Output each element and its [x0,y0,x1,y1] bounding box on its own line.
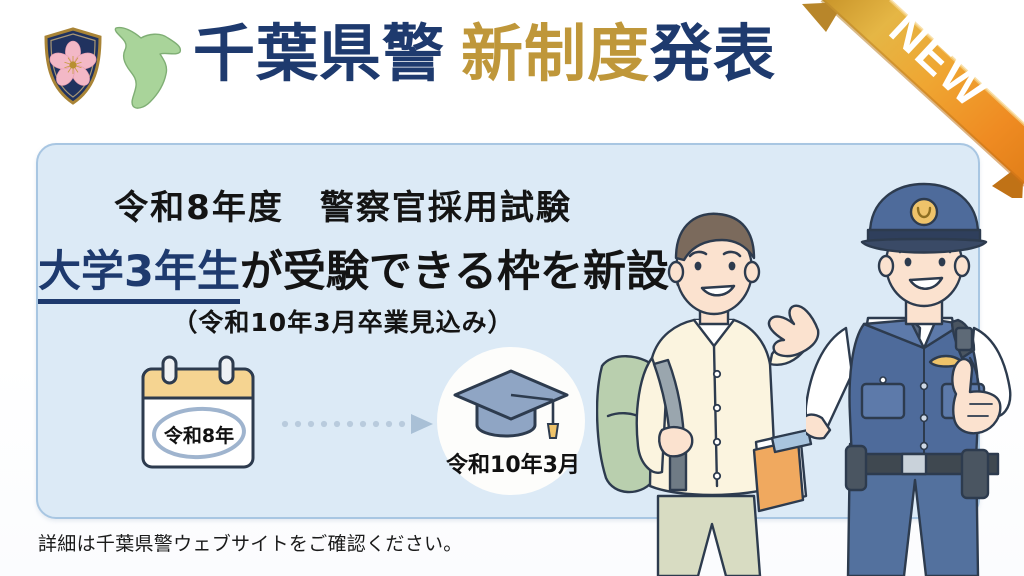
chiba-prefecture-map-icon [108,22,186,112]
header-bar: 千葉県警 新制度 発表 [0,0,1024,132]
timeline-graphic: 令和8年 [133,355,603,485]
calendar-icon [133,355,263,473]
highlight-university-third-year: 大学3年生 [38,247,240,304]
footer-note: 詳細は千葉県警ウェブサイトをご確認ください。 [38,529,463,556]
dotted-arrow-icon [281,412,433,436]
page-title: 千葉県警 新制度 発表 [193,21,776,88]
title-new-system: 新制度 [461,21,650,88]
graduation-cap-icon [453,361,573,447]
student-with-backpack-illustration [596,196,826,576]
timeline-start-label: 令和8年 [147,421,251,448]
police-officer-thumbs-up-illustration [806,178,1024,576]
graduation-milestone: 令和10年3月 [423,347,603,492]
timeline-end-label: 令和10年3月 [423,447,603,479]
poster-canvas: 千葉県警 新制度 発表 [0,0,1024,576]
chiba-police-emblem-icon [42,27,104,105]
title-org: 千葉県警 [193,21,445,88]
title-announcement: 発表 [650,21,776,88]
